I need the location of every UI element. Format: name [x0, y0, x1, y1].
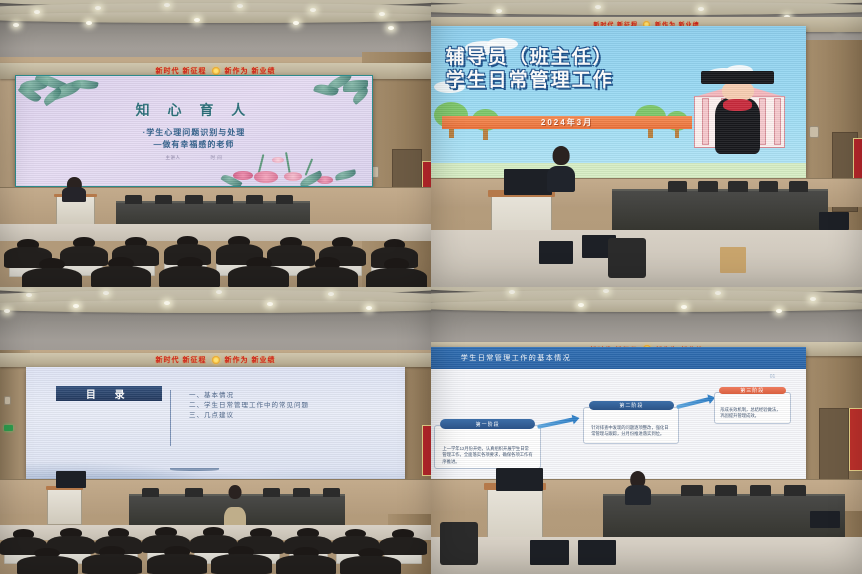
attendee-body	[17, 556, 77, 574]
flow-arrow	[537, 417, 575, 429]
podium-monitor	[504, 169, 551, 195]
wall-plaque	[809, 126, 819, 138]
chair	[185, 488, 202, 497]
attendee-body	[228, 266, 288, 287]
slogan-beam: 新时代 新征程 新作为 新业绩	[0, 353, 431, 367]
stage-floor	[431, 537, 862, 574]
speaker-head	[228, 485, 241, 499]
list-item: 三、几点建议	[189, 409, 382, 419]
panel-top-right: 新时代 新征程 新作为 新业绩	[431, 0, 862, 287]
contents-tag: 目 录	[56, 386, 162, 401]
flow-box-text: 形成长效机制，总结经验做法，巩固提升管理成效。	[714, 392, 791, 424]
flow-box: 第三阶段 形成长效机制，总结经验做法，巩固提升管理成效。	[714, 392, 791, 424]
downlight	[34, 10, 40, 14]
flow-box-text: 针对排查中发现的问题逐项整改，强化日常管理与跟踪，分月份推进落实到位。	[583, 407, 679, 445]
downlight	[86, 21, 92, 25]
panel-bottom-right: 新时代 新征程 新作为 新业绩 学生日常管理工作的基本情况 01 第一阶段 上一…	[431, 287, 862, 574]
slide-page-number: 01	[770, 374, 776, 380]
chair	[789, 181, 808, 192]
equipment-case	[819, 212, 849, 229]
speaker-body	[547, 166, 575, 193]
chair	[698, 181, 717, 192]
floor-speaker-box	[578, 540, 617, 566]
graduate-cartoon	[715, 71, 761, 159]
head-table	[612, 189, 828, 232]
stool	[720, 247, 746, 273]
chair	[155, 195, 172, 204]
flow-box-text: 上一学年12月份开始，认真组织开展学生日常管理工作，全面落实各项要求，确保各项工…	[434, 425, 541, 468]
audience	[0, 218, 431, 287]
ceiling-band	[0, 12, 431, 23]
led-screen: 目 录 一、基本情况 二、学生日常管理工作中的常见问题 三、几点建议	[26, 367, 405, 479]
slide-footer: 主讲人 时 间	[16, 155, 372, 161]
slide-subtitle-1: ·学生心理问题识别与处理	[16, 127, 372, 138]
graduation-cap-icon	[701, 71, 774, 83]
downlight	[95, 6, 101, 10]
downlight	[509, 290, 515, 294]
chair	[784, 485, 806, 496]
slide-footer-right: 时 间	[211, 155, 223, 161]
seated-presenter	[625, 471, 651, 505]
speaker	[62, 177, 86, 203]
downlight	[328, 292, 334, 296]
chair	[715, 485, 737, 496]
led-screen: 知 心 育 人 ·学生心理问题识别与处理 —做有幸福感的老师 主讲人 时 间	[15, 75, 373, 187]
speaker	[547, 146, 575, 192]
downlight	[496, 9, 502, 13]
graduate-scarf	[723, 99, 752, 111]
panel-top-left: 新时代 新征程 新作为 新业绩	[0, 0, 431, 287]
floor-speaker-box	[530, 540, 569, 566]
chair	[185, 195, 202, 204]
slide-title-line-1: 辅导员（班主任）	[446, 47, 614, 69]
school-pillar	[702, 98, 710, 145]
attendee-body	[267, 245, 314, 266]
flow-box-cap: 第二阶段	[589, 401, 673, 409]
floor-speaker-box	[539, 241, 573, 264]
sun-emblem-icon	[212, 356, 220, 364]
red-banner	[849, 408, 862, 471]
downlight	[595, 5, 601, 9]
contents-divider	[170, 390, 171, 446]
list-item: 一、基本情况	[189, 389, 382, 399]
attendee-body	[22, 268, 82, 287]
ceiling-band	[431, 300, 862, 312]
slide-title-line-2: 学生日常管理工作	[446, 70, 614, 92]
slide-title: 辅导员（班主任） 学生日常管理工作	[446, 47, 614, 92]
exit-sign	[4, 425, 13, 431]
slogan-right: 新作为 新业绩	[225, 355, 276, 365]
chair	[759, 181, 778, 192]
attendee-body	[159, 266, 219, 287]
contents-tag-label: 目 录	[86, 386, 133, 401]
photo-collage: 新时代 新征程 新作为 新业绩	[0, 0, 862, 574]
downlight	[681, 305, 687, 309]
slide-date: 2024年3月	[541, 117, 593, 128]
attendee-body	[60, 246, 107, 267]
podium-monitor	[56, 471, 86, 488]
graduate-head	[722, 81, 754, 100]
downlight	[4, 309, 10, 313]
attendee-body	[276, 555, 336, 574]
led-screen: 学生日常管理工作的基本情况 01 第一阶段 上一学年12月份开始，认真组织开展学…	[431, 347, 806, 482]
flow-box: 第一阶段 上一学年12月份开始，认真组织开展学生日常管理工作，全面落实各项要求，…	[434, 425, 541, 468]
tree-trunk	[675, 128, 679, 138]
contents-list: 一、基本情况 二、学生日常管理工作中的常见问题 三、几点建议	[189, 389, 382, 419]
slide-subtitle-2: —做有幸福感的老师	[16, 139, 372, 150]
chair	[263, 488, 280, 497]
downlight	[216, 290, 222, 294]
slide-footer-left: 主讲人	[166, 155, 181, 161]
chair	[323, 488, 340, 497]
panel-bottom-left: 新时代 新征程 新作为 新业绩 目 录 一、基本情况 二、学生日常管理工作中的常…	[0, 287, 431, 574]
tree-trunk	[483, 128, 487, 140]
flow-box: 第二阶段 针对排查中发现的问题逐项整改，强化日常管理与跟踪，分月份推进落实到位。	[583, 407, 679, 445]
attendee-body	[379, 537, 426, 555]
attendee-body	[297, 267, 357, 287]
chair	[728, 181, 747, 192]
attendee-body	[147, 554, 207, 574]
flow-arrow	[676, 397, 710, 409]
chair	[668, 181, 687, 192]
chair	[125, 195, 142, 204]
downlight	[310, 8, 316, 12]
chair	[216, 195, 233, 204]
downlight	[164, 301, 170, 305]
chair	[142, 488, 159, 497]
chair	[246, 195, 263, 204]
date-ribbon: 2024年3月	[442, 116, 692, 130]
list-item: 二、学生日常管理工作中的常见问题	[189, 399, 382, 409]
slogan-left: 新时代 新征程	[156, 355, 207, 365]
school-pillar	[774, 98, 782, 145]
red-banner	[422, 425, 431, 477]
folding-chair	[608, 238, 647, 278]
attendee-body	[366, 268, 426, 287]
downlight	[194, 18, 200, 22]
slide-title: 知 心 育 人	[16, 100, 372, 120]
downlight	[293, 21, 299, 25]
attendee-body	[91, 266, 151, 287]
attendee-body	[82, 554, 142, 574]
flow-box-cap: 第一阶段	[440, 419, 535, 428]
led-screen: 辅导员（班主任） 学生日常管理工作 2024年3月	[431, 26, 806, 178]
slogan-text: 新时代 新征程 新作为 新业绩	[156, 355, 276, 365]
wall-plaque	[4, 396, 11, 405]
audience	[0, 517, 431, 574]
chair	[293, 488, 310, 497]
stage-floor	[431, 230, 862, 287]
chair	[750, 485, 772, 496]
presenter-body	[625, 485, 651, 505]
ceiling-band	[431, 2, 862, 15]
slide-header-label: 学生日常管理工作的基本情况	[461, 353, 572, 363]
chair	[681, 485, 703, 496]
folding-chair	[440, 522, 479, 565]
speaker-body	[62, 187, 86, 202]
attendee-body	[211, 554, 271, 574]
chair	[276, 195, 293, 204]
downlight	[698, 7, 704, 11]
attendee-body	[340, 556, 400, 574]
equipment-case	[810, 511, 840, 528]
slide-header: 学生日常管理工作的基本情况	[431, 347, 806, 369]
slide-ground	[431, 163, 806, 178]
flow-box-cap: 第三阶段	[719, 387, 787, 394]
speaker-head	[553, 146, 570, 164]
podium-monitor	[496, 468, 543, 491]
